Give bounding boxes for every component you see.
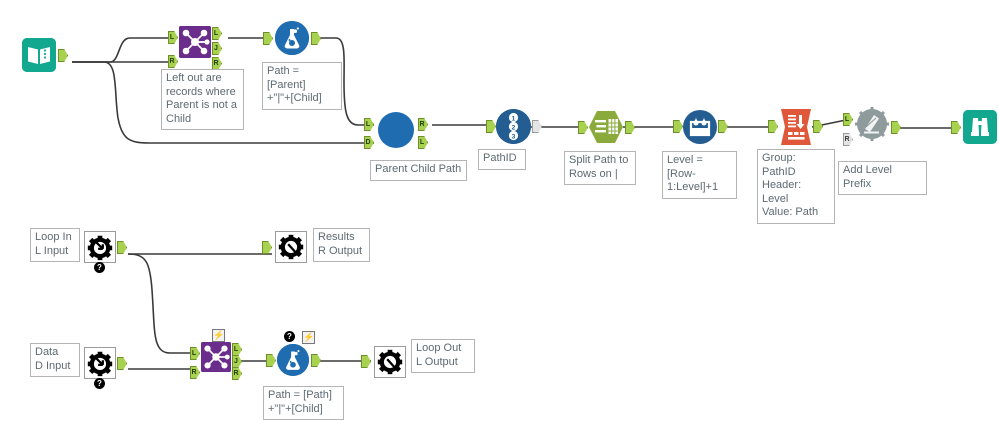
anchor-formula1-in[interactable]	[263, 32, 273, 45]
anchor-crosstab-out[interactable]	[813, 120, 823, 133]
formula-flask-icon	[277, 344, 309, 376]
anchor-loopout-in[interactable]	[361, 355, 371, 368]
question-badge-icon: ?	[94, 378, 105, 389]
anchor-join-out-l[interactable]: L	[212, 27, 222, 40]
macro-output-icon	[275, 231, 307, 263]
anchor-datain-out[interactable]	[117, 357, 127, 370]
anchor-macro-out-r[interactable]: R	[418, 118, 428, 131]
macro-input-icon	[84, 231, 116, 263]
anchor-join2-in-r[interactable]: R	[190, 366, 200, 379]
anchor-join-out-j[interactable]: J	[212, 42, 222, 55]
anchor-ttc-out[interactable]	[625, 121, 635, 134]
anchor-ttc-in[interactable]	[578, 121, 588, 134]
workflow-canvas[interactable]: L R L J R Left out are records where Par…	[0, 0, 999, 437]
anchor-rename-in-r[interactable]: R	[843, 133, 853, 146]
anchor-browse-in[interactable]	[951, 121, 961, 134]
anchor-output[interactable]	[58, 49, 68, 62]
connection-wires	[0, 0, 999, 437]
anchor-recordid-in[interactable]	[486, 120, 496, 133]
svg-text:3: 3	[512, 133, 516, 140]
anchor-crosstab-in[interactable]	[768, 120, 778, 133]
anno-formula-1: Path = [Parent] +"|"+[Child]	[262, 62, 342, 110]
formula-flask-icon	[275, 21, 309, 55]
anchor-mrf-in[interactable]	[673, 120, 683, 133]
record-id-icon: 1 2 3	[496, 109, 531, 144]
question-badge-icon: ?	[94, 262, 105, 273]
svg-text:1: 1	[512, 115, 516, 122]
lightning-badge-icon: ⚡	[302, 331, 315, 344]
anchor-formula1-out[interactable]	[311, 32, 321, 45]
anno-record-id: PathID	[478, 149, 526, 170]
join-icon	[179, 26, 211, 58]
macro-circle-icon	[378, 112, 414, 148]
anchor-formula2-out[interactable]	[311, 354, 321, 367]
anno-results-out: Results R Output	[313, 228, 370, 262]
anchor-join2-out-r[interactable]: R	[232, 367, 242, 380]
anchor-formula2-in[interactable]	[266, 354, 276, 367]
anno-multi-row: Level = [Row- 1:Level]+1	[662, 151, 737, 199]
question-badge-icon: ?	[284, 331, 295, 342]
macro-output-icon	[374, 346, 406, 378]
lightning-badge-icon: ⚡	[212, 329, 225, 342]
anno-text-to-columns: Split Path to Rows on |	[564, 151, 636, 185]
dynamic-rename-icon	[854, 106, 890, 142]
anno-loop-out: Loop Out L Output	[411, 339, 475, 373]
anchor-join-in-r[interactable]: R	[168, 55, 178, 68]
anno-macro: Parent Child Path	[370, 160, 467, 181]
anchor-macro-out-l[interactable]: L	[418, 136, 428, 149]
anchor-results-in[interactable]	[262, 241, 272, 254]
join-icon	[201, 342, 231, 372]
cross-tab-icon	[778, 108, 813, 146]
multi-row-formula-icon	[683, 110, 717, 144]
anno-dynamic-rename: Add Level Prefix	[838, 161, 927, 195]
anchor-macro-in-l[interactable]: L	[364, 118, 374, 131]
book-input-icon	[22, 38, 56, 72]
anchor-loopin-out[interactable]	[117, 241, 127, 254]
anno-join: Left out are records where Parent is not…	[161, 69, 244, 130]
anchor-join2-in-l[interactable]: L	[190, 347, 200, 360]
browse-binoculars-icon	[963, 110, 997, 144]
anchor-rename-out[interactable]	[891, 121, 901, 134]
anchor-recordid-out[interactable]	[532, 120, 542, 133]
svg-text:2: 2	[512, 124, 516, 131]
anchor-mrf-out[interactable]	[718, 120, 728, 133]
text-to-columns-icon	[588, 110, 624, 144]
anchor-rename-in-l[interactable]: L	[843, 113, 853, 126]
anchor-join-in-l[interactable]: L	[168, 31, 178, 44]
anno-cross-tab: Group: PathID Header: Level Value: Path	[757, 149, 835, 224]
anno-data-in: Data D Input	[30, 343, 80, 377]
anno-loop-in: Loop In L Input	[30, 228, 80, 262]
anchor-macro-in-d[interactable]: D	[364, 136, 374, 149]
macro-input-icon	[84, 347, 116, 379]
anno-formula-2: Path = [Path] +"|"+[Child]	[263, 386, 344, 420]
